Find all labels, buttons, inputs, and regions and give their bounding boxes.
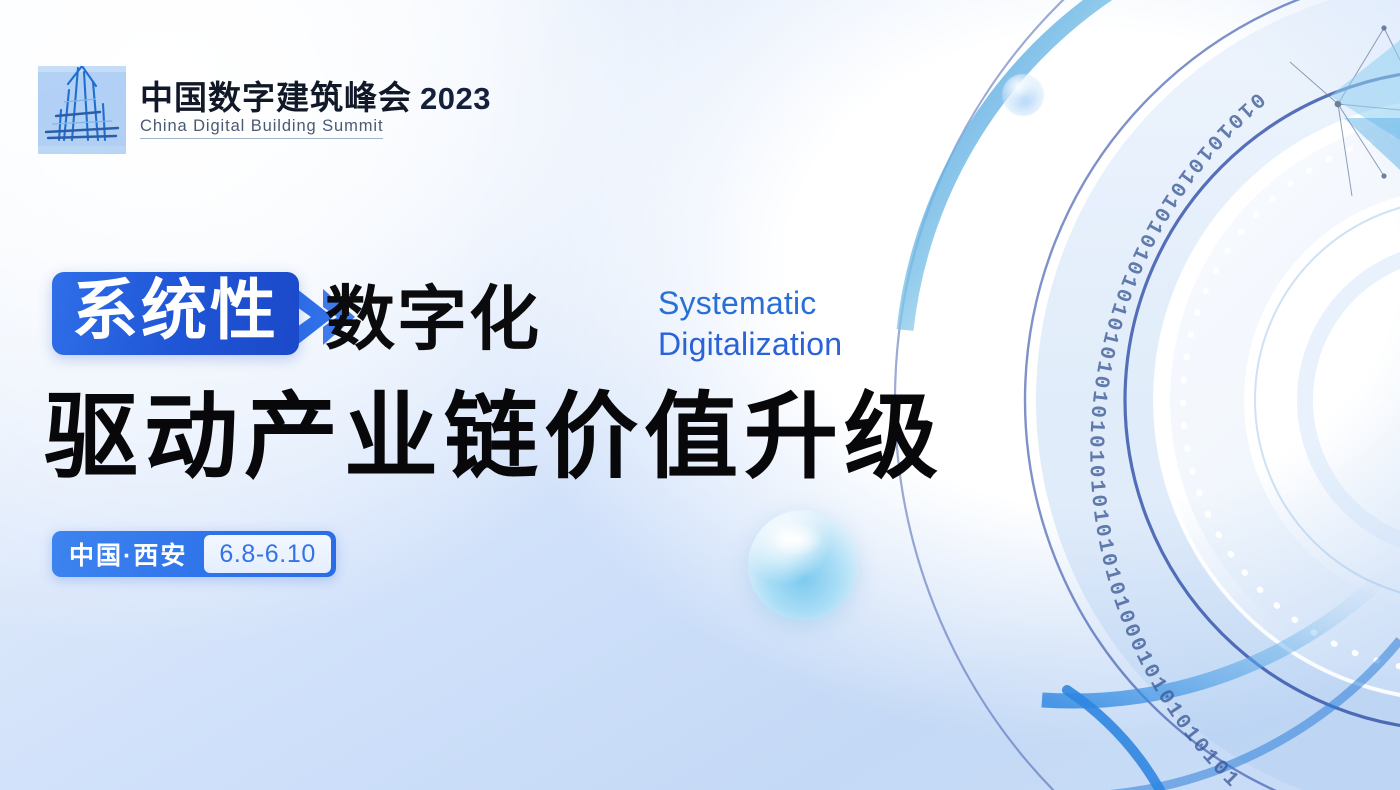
headline-keyword-digital: 数字化 (325, 284, 541, 355)
headline-primary-row: 系统性 数字化 (52, 272, 541, 355)
logo-year: 2023 (420, 83, 491, 116)
logo-title-cn: 中国数字建筑峰会 (140, 81, 412, 116)
event-dates: 6.8-6.10 (204, 535, 331, 573)
logo-title-cn-row: 中国数字建筑峰会 2023 (140, 81, 491, 116)
summit-logo-lockup: 中国数字建筑峰会 2023 China Digital Building Sum… (38, 66, 491, 154)
event-city: 中国·西安 (52, 531, 204, 577)
logo-text-block: 中国数字建筑峰会 2023 China Digital Building Sum… (140, 81, 491, 140)
building-scaffold-logo-icon (38, 66, 126, 154)
event-meta-pill: 中国·西安 6.8-6.10 (52, 531, 336, 577)
headline-english-line2: Digitalization (658, 324, 842, 365)
headline-badge-systematic: 系统性 (52, 272, 299, 355)
logo-title-en: China Digital Building Summit (140, 117, 383, 140)
headline-english-block: Systematic Digitalization (658, 283, 842, 365)
banner-content: 中国数字建筑峰会 2023 China Digital Building Sum… (0, 0, 1400, 790)
headline-english-line1: Systematic (658, 283, 842, 324)
summit-banner: 0101010101010101010101010101010101010100… (0, 0, 1400, 790)
headline-subheadline: 驱动产业链价值升级 (44, 386, 944, 488)
